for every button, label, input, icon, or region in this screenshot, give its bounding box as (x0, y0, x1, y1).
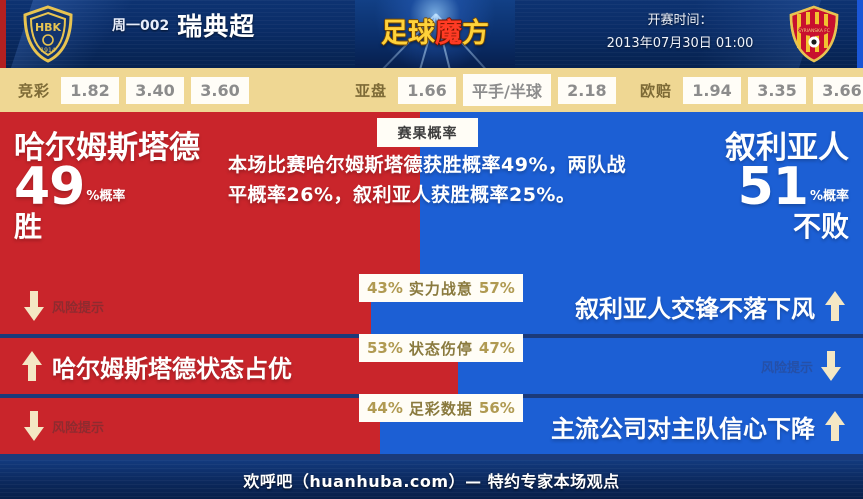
risk-warning-home: 风险提示 (24, 278, 104, 334)
arrow-up-icon (825, 411, 845, 441)
match-analysis-infographic: HBK 1914 周一002 瑞典超 足球魔方 开赛时间： 2013年07月30… (0, 0, 863, 499)
outcome-probability-panel: 赛果概率 哈尔姆斯塔德 49 %概率 胜 叙利亚人 51 %概率 不败 本场比赛… (0, 112, 863, 278)
away-percent-suffix: %概率 (808, 190, 849, 212)
svg-text:SYRIANSKA FC: SYRIANSKA FC (798, 28, 830, 34)
risk-warning-home: 风险提示 (24, 398, 104, 454)
risk-warning-label: 风险提示 (52, 297, 104, 316)
odds-value[interactable]: 2.18 (558, 77, 616, 104)
brand-title-part2: 魔 (435, 18, 462, 49)
odds-value[interactable]: 1.82 (61, 77, 119, 104)
stat-name: 实力战意 (409, 278, 473, 299)
stat-left-percent: 44% (367, 399, 403, 417)
stat-rows: 43% 实力战意 57% 风险提示 叙利亚人交锋不落下风 53% 状态伤停 47… (0, 278, 863, 460)
brand-title-part1: 足球 (381, 18, 435, 49)
away-percent-value: 51 (738, 164, 808, 212)
league-name: 瑞典超 (177, 14, 255, 39)
arrow-down-icon (24, 291, 44, 321)
svg-text:1914: 1914 (40, 47, 55, 54)
brand-logo: 足球魔方 (355, 0, 515, 68)
arrow-up-icon (22, 351, 42, 381)
stat-right-percent: 47% (479, 339, 515, 357)
away-percent-row: 51 %概率 (725, 164, 849, 212)
footer-credit: 欢呼吧（huanhuba.com）— 特约专家本场观点 (243, 468, 619, 492)
arrow-up-icon (825, 291, 845, 321)
brand-title-part3: 方 (462, 18, 489, 49)
home-percent-row: 49 %概率 (14, 164, 200, 212)
risk-warning-label: 风险提示 (761, 357, 813, 376)
odds-value[interactable]: 1.94 (683, 77, 741, 104)
stat-statement-text: 主流公司对主队信心下降 (551, 409, 815, 444)
header-left-accent (0, 0, 6, 68)
stat-left-percent: 53% (367, 339, 403, 357)
risk-warning-label: 风险提示 (52, 417, 104, 436)
stat-row: 43% 实力战意 57% 风险提示 叙利亚人交锋不落下风 (0, 278, 863, 334)
odds-value[interactable]: 3.66 (813, 77, 863, 104)
odds-handicap-value[interactable]: 平手/半球 (463, 74, 551, 106)
odds-group-oupei: 欧赔 1.94 3.35 3.66 (640, 77, 863, 104)
stat-left-percent: 43% (367, 279, 403, 297)
odds-bar: 竞彩 1.82 3.40 3.60 亚盘 1.66 平手/半球 2.18 欧赔 … (0, 68, 863, 112)
odds-group-jingcai: 竞彩 1.82 3.40 3.60 (18, 77, 249, 104)
home-percent-suffix: %概率 (84, 190, 125, 212)
stat-name: 足彩数据 (409, 398, 473, 419)
stat-statement-away: 主流公司对主队信心下降 (551, 398, 845, 454)
stat-statement-away: 叙利亚人交锋不落下风 (575, 278, 845, 334)
away-summary: 叙利亚人 51 %概率 不败 (725, 132, 849, 241)
stat-statement-text: 叙利亚人交锋不落下风 (575, 289, 815, 324)
stat-mid-label: 44% 足彩数据 56% (359, 394, 523, 422)
brand-title: 足球魔方 (355, 20, 515, 47)
stat-row: 44% 足彩数据 56% 风险提示 主流公司对主队信心下降 (0, 398, 863, 454)
stat-row: 53% 状态伤停 47% 哈尔姆斯塔德状态占优 风险提示 (0, 338, 863, 394)
home-team-crest-icon: HBK 1914 (18, 4, 78, 64)
home-verdict: 胜 (14, 212, 200, 241)
away-team-crest-icon: SYRIANSKA FC (784, 4, 844, 64)
odds-group-label: 欧赔 (640, 80, 672, 101)
odds-group-label: 竞彩 (18, 80, 50, 101)
home-percent-value: 49 (14, 164, 84, 212)
stat-statement-text: 哈尔姆斯塔德状态占优 (52, 349, 292, 384)
odds-value[interactable]: 3.60 (191, 77, 249, 104)
kickoff-label: 开赛时间： (590, 10, 770, 33)
header-bar: HBK 1914 周一002 瑞典超 足球魔方 开赛时间： 2013年07月30… (0, 0, 863, 68)
stat-name: 状态伤停 (409, 338, 473, 359)
stat-right-percent: 57% (479, 279, 515, 297)
odds-group-label: 亚盘 (355, 80, 387, 101)
odds-group-yapan: 亚盘 1.66 平手/半球 2.18 (355, 74, 616, 106)
home-summary: 哈尔姆斯塔德 49 %概率 胜 (14, 132, 200, 241)
probability-summary-text: 本场比赛哈尔姆斯塔德获胜概率49%，两队战平概率26%，叙利亚人获胜概率25%。 (228, 150, 628, 210)
kickoff-time: 开赛时间： 2013年07月30日 01:00 (590, 10, 770, 56)
stat-mid-label: 53% 状态伤停 47% (359, 334, 523, 362)
kickoff-value: 2013年07月30日 01:00 (590, 33, 770, 56)
odds-value[interactable]: 1.66 (398, 77, 456, 104)
arrow-down-icon (821, 351, 841, 381)
odds-value[interactable]: 3.35 (748, 77, 806, 104)
risk-warning-away: 风险提示 (761, 338, 841, 394)
arrow-down-icon (24, 411, 44, 441)
league-heading: 周一002 瑞典超 (112, 14, 255, 39)
round-number: 周一002 (112, 15, 169, 39)
stat-mid-label: 43% 实力战意 57% (359, 274, 523, 302)
stat-statement-home: 哈尔姆斯塔德状态占优 (22, 338, 292, 394)
tab-outcome-probability[interactable]: 赛果概率 (377, 118, 478, 147)
header-right-accent (857, 0, 863, 68)
stat-right-percent: 56% (479, 399, 515, 417)
svg-text:HBK: HBK (35, 21, 62, 34)
odds-value[interactable]: 3.40 (126, 77, 184, 104)
footer-bar: 欢呼吧（huanhuba.com）— 特约专家本场观点 (0, 460, 863, 499)
